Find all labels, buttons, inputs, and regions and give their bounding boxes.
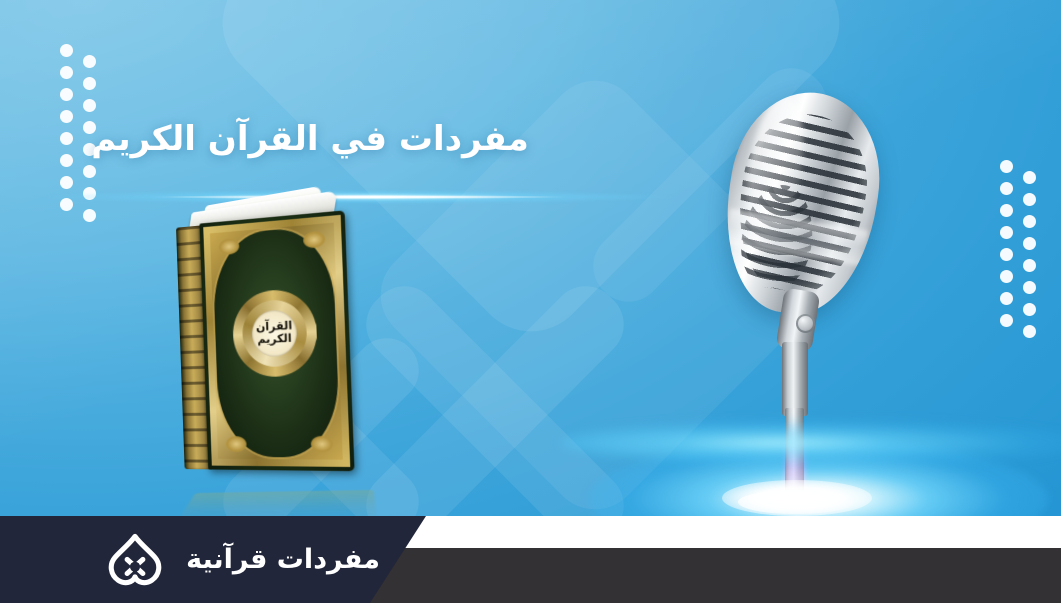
dot	[1000, 182, 1013, 195]
cover-floret-top-left-icon	[218, 238, 239, 255]
cover-medallion: القرآن الكريم	[232, 288, 319, 378]
page-title: مفردات في القرآن الكريم	[0, 118, 620, 161]
heart-knot-logo-icon	[106, 533, 164, 587]
book-cover: القرآن الكريم	[199, 210, 354, 471]
quran-book-illustration: القرآن الكريم	[168, 204, 368, 504]
dot	[1000, 248, 1013, 261]
dot	[83, 55, 96, 68]
dot	[1023, 237, 1036, 250]
dot	[1023, 259, 1036, 272]
footer-brand-group: مفردات قرآنية	[0, 516, 380, 603]
dot	[1000, 226, 1013, 239]
dot	[1023, 281, 1036, 294]
dot	[1023, 325, 1036, 338]
light-streak-core-icon	[150, 195, 570, 199]
dot	[1023, 193, 1036, 206]
right-side-flare	[560, 420, 1061, 466]
footer-bar: مفردات قرآنية	[0, 516, 1061, 603]
dot	[1000, 160, 1013, 173]
dot	[1023, 171, 1036, 184]
dot	[83, 209, 96, 222]
microphone-head	[712, 82, 893, 324]
microphone-pivot-knob-icon	[796, 314, 815, 333]
dot	[1000, 292, 1013, 305]
dot	[1023, 215, 1036, 228]
dot	[1000, 270, 1013, 283]
dot	[1023, 303, 1036, 316]
dot	[83, 77, 96, 90]
book-body: القرآن الكريم	[178, 211, 353, 472]
dot	[60, 88, 73, 101]
microphone-base-glow-core	[722, 480, 872, 516]
dot	[60, 44, 73, 57]
microphone-stem-upper	[782, 342, 808, 416]
banner-stage: مفردات في القرآن الكريم القرآن الكريم	[0, 0, 1061, 603]
dot	[1000, 204, 1013, 217]
dot	[83, 165, 96, 178]
cover-floret-bottom-right-icon	[311, 436, 334, 452]
book-cover-title: القرآن الكريم	[254, 320, 294, 346]
brand-name: مفردات قرآنية	[186, 544, 380, 575]
cover-floret-top-right-icon	[303, 231, 326, 249]
medallion-center: القرآن الكريم	[251, 309, 297, 357]
title-container: مفردات في القرآن الكريم	[0, 118, 620, 161]
dot	[1000, 314, 1013, 327]
dot	[83, 99, 96, 112]
dot	[60, 66, 73, 79]
dot	[60, 176, 73, 189]
cover-floret-bottom-left-icon	[226, 436, 247, 452]
